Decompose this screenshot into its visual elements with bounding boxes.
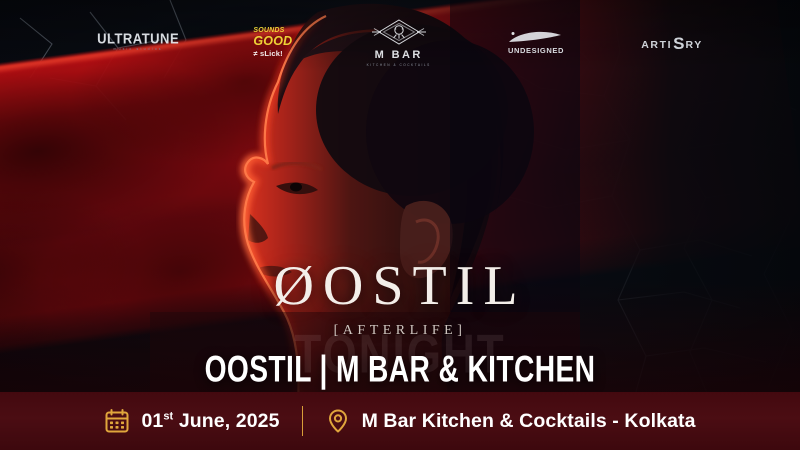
ultratune-wordmark: ULTRATUNE [97,31,179,46]
m-bar-diamond-emblem-icon [372,17,426,47]
artistry-prefix: ARTI [641,40,672,51]
sponsor-logo-undesigned: UNDESIGNED [505,30,567,55]
sounds-good-line3: ≠ sLick! [253,50,282,58]
calendar-icon [104,408,130,434]
event-date-item: 01st June, 2025 [104,408,279,434]
artistry-suffix: RY [685,40,702,51]
info-divider [302,406,303,436]
event-venue-text: M Bar Kitchen & Cocktails - Kolkata [362,410,696,433]
event-venue-item: M Bar Kitchen & Cocktails - Kolkata [325,408,696,434]
sponsor-logo-strip: ULTRATUNE music studios SOUNDS GOOD ≠ sL… [0,0,800,84]
artist-name: ØOSTIL [273,258,526,314]
undesigned-swoosh-icon [505,30,567,46]
sponsor-logo-m-bar: M BAR KITCHEN & COCKTAILS [367,17,431,67]
sponsor-logo-sounds-good: SOUNDS GOOD ≠ sLick! [253,27,292,57]
event-date-ordinal: st [163,410,173,422]
undesigned-wordmark: UNDESIGNED [508,47,564,55]
event-poster: ULTRATUNE music studios SOUNDS GOOD ≠ sL… [0,0,800,450]
m-bar-wordmark: M BAR [375,50,423,61]
artist-lockup: ØOSTIL [AFTERLIFE] [0,258,800,339]
sponsor-logo-ultratune: ULTRATUNE music studios [97,32,179,51]
ultratune-tagline: music studios [114,48,163,51]
event-title: OOSTIL | M BAR & KITCHEN [24,350,776,391]
event-info-bar: 01st June, 2025 M Bar Kitchen & Cocktail… [0,392,800,450]
sponsor-logo-artistry: ARTI S RY [641,34,703,51]
sounds-good-line2: GOOD [253,35,292,48]
artist-tagline: [AFTERLIFE] [0,323,800,339]
map-pin-icon [325,408,351,434]
event-date-rest: June, 2025 [173,410,279,432]
event-date-text: 01st June, 2025 [141,410,279,433]
event-date-day: 01 [141,410,163,432]
artistry-big-letter: S [673,35,684,52]
sounds-good-line1: SOUNDS [253,27,284,34]
m-bar-tagline: KITCHEN & COCKTAILS [367,64,431,67]
